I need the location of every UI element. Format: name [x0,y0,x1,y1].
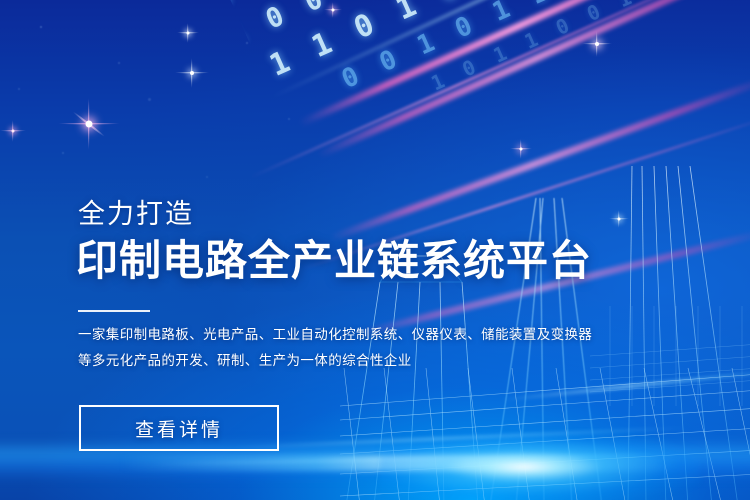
title-divider [78,310,150,312]
hero-description: 一家集印制电路板、光电产品、工业自动化控制系统、仪器仪表、储能装置及变换器 等多… [78,322,598,374]
hero-description-line-1: 一家集印制电路板、光电产品、工业自动化控制系统、仪器仪表、储能装置及变换器 [78,322,598,348]
page-title: 印制电路全产业链系统平台 [76,236,592,286]
view-details-button[interactable]: 查看详情 [79,405,279,451]
hero-content: 全力打造 印制电路全产业链系统平台 一家集印制电路板、光电产品、工业自动化控制系… [78,0,638,500]
hero-banner: 1 0 1 0 0 1 0 1 1 0 0 1 0 1 0 0 1 1 0 1 … [0,0,750,500]
dust-particle [40,26,42,28]
hero-description-line-2: 等多元化产品的开发、研制、生产为一体的综合性企业 [78,348,598,374]
hero-eyebrow: 全力打造 [78,198,194,230]
dust-particle [18,88,20,90]
dust-particle [62,152,64,154]
